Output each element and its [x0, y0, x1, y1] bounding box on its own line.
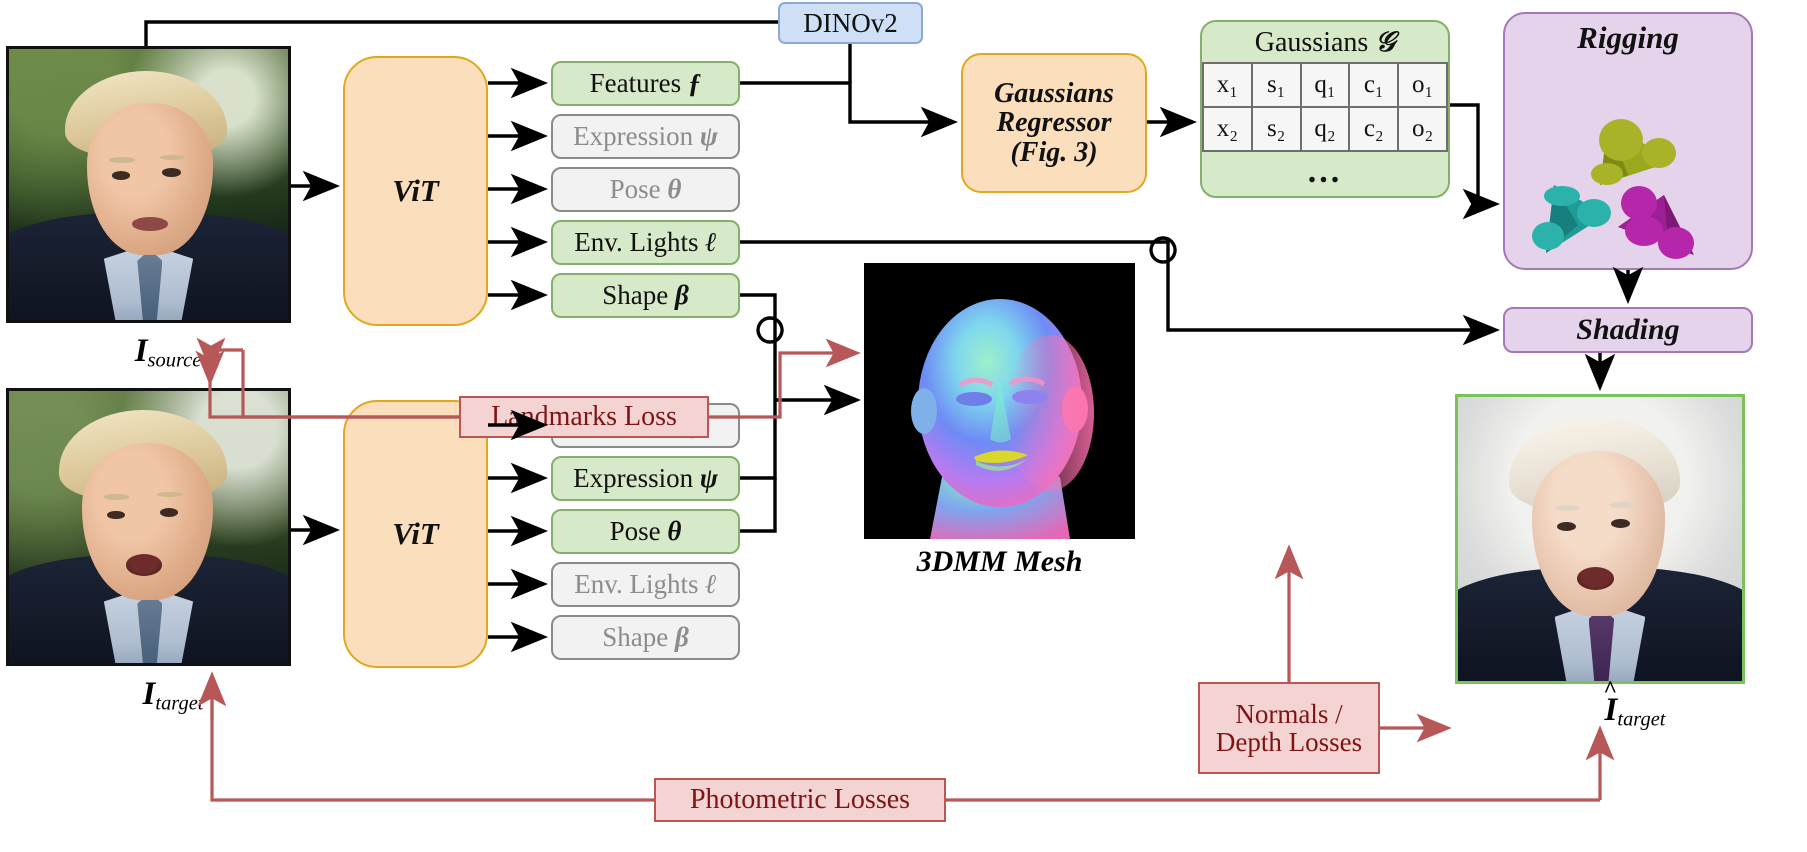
rigging-illustration: [1508, 55, 1748, 260]
mesh-render: [864, 263, 1135, 539]
gaussians-panel: Gaussians 𝒢 x₁ s₁ q₁ c₁ o₁ x₂ s₂ q₂ c₂ o…: [1200, 20, 1450, 198]
target-attr-pose-label: Pose: [610, 517, 661, 545]
normals-depth-loss-line-1: Normals /: [1235, 700, 1342, 728]
rigging-panel: Rigging: [1503, 12, 1753, 270]
junction-landmarks: [758, 318, 782, 342]
target-attr-expression-symbol: ψ: [700, 464, 718, 492]
source-attr-expression-label: Expression: [573, 122, 693, 150]
source-attr-shape[interactable]: Shape β: [551, 273, 740, 318]
target-image-label: Itarget: [88, 676, 258, 716]
source-attr-expression-symbol: ψ: [700, 122, 718, 150]
gaussian-cell-x1: x₁: [1203, 63, 1252, 107]
vit-encoder-source-label: ViT: [392, 175, 439, 208]
target-attr-env-lights-label: Env. Lights: [574, 570, 698, 598]
table-row: x₂ s₂ q₂ c₂ o₂: [1203, 107, 1447, 151]
gaussians-title-symbol: 𝒢: [1375, 27, 1395, 58]
target-attr-pose[interactable]: Pose θ: [551, 509, 740, 554]
source-label-subscript: source: [148, 350, 202, 372]
output-label-subscript: target: [1617, 709, 1665, 731]
teal-triangle: [1532, 185, 1611, 253]
source-attr-shape-label: Shape: [602, 281, 668, 309]
gaussian-cell-q2: q₂: [1301, 107, 1350, 151]
source-attr-pose-label: Pose: [610, 175, 661, 203]
normals-depth-loss-box[interactable]: Normals / Depth Losses: [1198, 682, 1380, 774]
shading-label: Shading: [1576, 314, 1679, 346]
normal-map-head: [864, 263, 1135, 539]
regressor-line-1: Gaussians: [994, 79, 1114, 108]
gaussian-cell-x2: x₂: [1203, 107, 1252, 151]
gaussians-title: Gaussians 𝒢: [1255, 28, 1395, 57]
gaussian-cell-s2: s₂: [1252, 107, 1301, 151]
gaussians-continuation: ...: [1308, 162, 1343, 182]
wire-photometric-left: [212, 700, 654, 800]
photometric-loss-box[interactable]: Photometric Losses: [654, 778, 946, 822]
output-image: [1455, 394, 1745, 684]
output-label-symbol: ^ I: [1605, 692, 1618, 728]
source-attr-pose[interactable]: Pose θ: [551, 167, 740, 212]
wire-dinov2-to-source: [146, 22, 778, 46]
wire-gaussians-to-rigging: [1450, 105, 1495, 204]
regressor-line-3: (Fig. 3): [1010, 138, 1097, 167]
figure-canvas: Isource Itarget ViT ViT Features ƒ Expre…: [0, 0, 1807, 852]
source-image-label: Isource: [88, 333, 248, 373]
regressor-line-2: Regressor: [996, 108, 1111, 137]
source-attr-env-lights-label: Env. Lights: [574, 228, 698, 256]
gaussian-cell-c2: c₂: [1349, 107, 1398, 151]
vit-encoder-target-label: ViT: [392, 518, 439, 551]
target-attr-env-lights-symbol: ℓ: [705, 570, 717, 598]
mesh-caption: 3DMM Mesh: [864, 545, 1135, 579]
target-attr-pose-symbol: θ: [667, 517, 681, 545]
photometric-loss-label: Photometric Losses: [690, 785, 910, 814]
target-attr-shape-label: Shape: [602, 623, 668, 651]
wire-expression-up: [740, 400, 775, 478]
gaussian-cell-s1: s₁: [1252, 63, 1301, 107]
wire-features-to-regressor: [740, 83, 953, 122]
source-attr-shape-symbol: β: [675, 281, 689, 309]
source-attr-features-label: Features: [590, 69, 681, 97]
gaussian-cell-o1: o₁: [1398, 63, 1447, 107]
olive-triangle: [1591, 119, 1676, 185]
source-attr-env-lights-symbol: ℓ: [705, 228, 717, 256]
wire-pose-up: [740, 478, 775, 531]
vit-encoder-target[interactable]: ViT: [343, 400, 488, 668]
rigging-title: Rigging: [1577, 22, 1679, 55]
dinov2-label: DINOv2: [803, 9, 898, 37]
wire-shape-down: [740, 295, 775, 400]
target-attr-expression[interactable]: Expression ψ: [551, 456, 740, 501]
source-image: [6, 46, 291, 323]
gaussian-cell-o2: o₂: [1398, 107, 1447, 151]
output-image-label: ^ Itarget: [1540, 692, 1730, 732]
gaussians-title-text: Gaussians: [1255, 27, 1369, 58]
hat-accent: ^: [1603, 677, 1617, 704]
source-attr-features-symbol: ƒ: [688, 69, 702, 97]
magenta-triangle: [1618, 186, 1694, 259]
gaussians-table: x₁ s₁ q₁ c₁ o₁ x₂ s₂ q₂ c₂ o₂: [1202, 62, 1448, 152]
normals-depth-loss-line-2: Depth Losses: [1216, 728, 1362, 756]
target-attr-shape[interactable]: Shape β: [551, 615, 740, 660]
target-label-symbol: I: [143, 676, 156, 712]
dinov2-box[interactable]: DINOv2: [778, 2, 923, 44]
table-row: x₁ s₁ q₁ c₁ o₁: [1203, 63, 1447, 107]
source-attr-pose-symbol: θ: [667, 175, 681, 203]
mesh-caption-text: 3DMM Mesh: [917, 545, 1083, 578]
landmarks-loss-label: Landmarks Loss: [491, 402, 677, 431]
source-attr-features[interactable]: Features ƒ: [551, 61, 740, 106]
landmarks-loss-box[interactable]: Landmarks Loss: [459, 396, 709, 438]
target-attr-expression-label: Expression: [573, 464, 693, 492]
shading-box[interactable]: Shading: [1503, 307, 1753, 353]
target-attr-env-lights[interactable]: Env. Lights ℓ: [551, 562, 740, 607]
gaussians-regressor-box[interactable]: Gaussians Regressor (Fig. 3): [961, 53, 1147, 193]
target-image: [6, 388, 291, 666]
source-attr-expression[interactable]: Expression ψ: [551, 114, 740, 159]
vit-encoder-source[interactable]: ViT: [343, 56, 488, 326]
source-label-symbol: I: [135, 333, 148, 369]
gaussian-cell-c1: c₁: [1349, 63, 1398, 107]
source-attr-env-lights[interactable]: Env. Lights ℓ: [551, 220, 740, 265]
gaussian-cell-q1: q₁: [1301, 63, 1350, 107]
target-attr-shape-symbol: β: [675, 623, 689, 651]
target-label-subscript: target: [155, 693, 203, 715]
junction-shading: [1151, 238, 1175, 262]
